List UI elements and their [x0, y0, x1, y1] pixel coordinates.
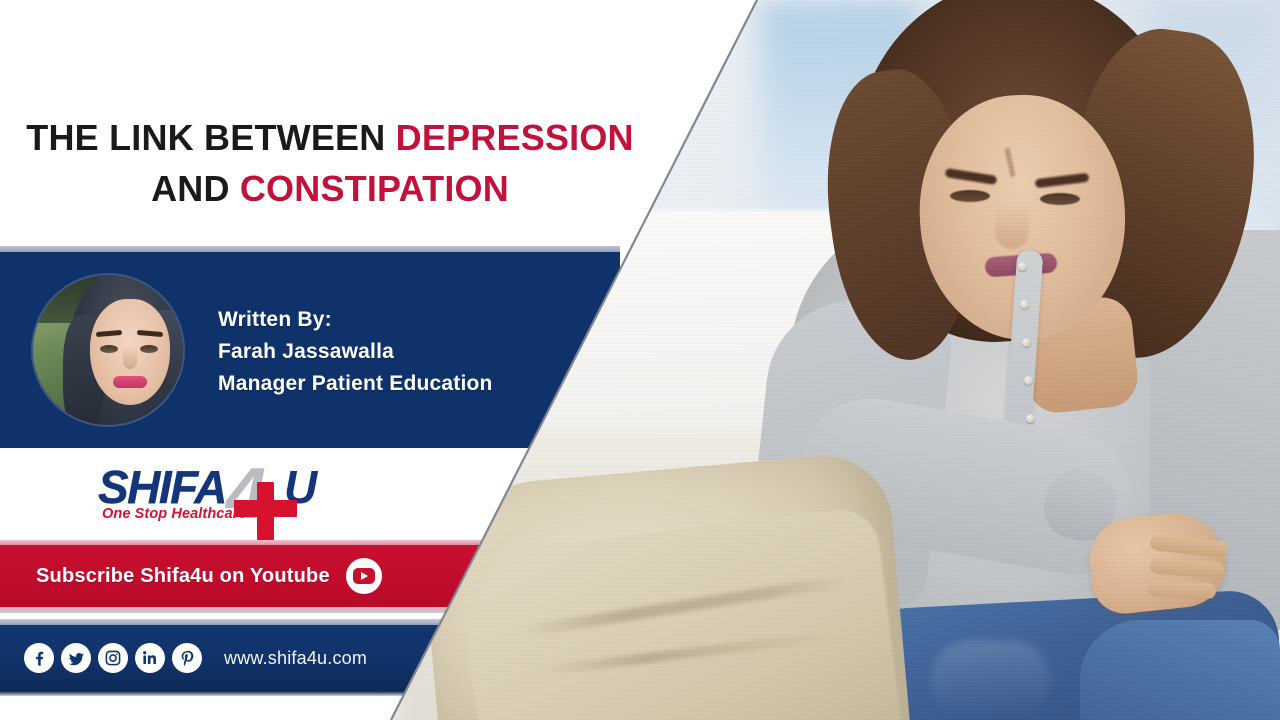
avatar-lips — [113, 376, 147, 388]
logo-tagline: One Stop Healthcare — [102, 506, 247, 522]
author-text-block: Written By: Farah Jassawalla Manager Pat… — [218, 304, 493, 400]
facebook-icon[interactable] — [24, 643, 54, 673]
youtube-badge — [353, 568, 375, 584]
title-line-2: AND CONSTIPATION — [0, 163, 660, 214]
linkedin-icon[interactable] — [135, 643, 165, 673]
photo-shirt-button — [1024, 376, 1033, 385]
avatar-eye-right — [140, 345, 158, 353]
avatar-nose — [123, 347, 137, 369]
page-title: THE LINK BETWEEN DEPRESSION AND CONSTIPA… — [0, 112, 660, 214]
avatar — [33, 275, 183, 425]
shifa4u-logo[interactable]: 4 SHIFA U One Stop Healthcare — [98, 456, 338, 530]
title-line-2-plain: AND — [151, 168, 240, 209]
banner-root: THE LINK BETWEEN DEPRESSION AND CONSTIPA… — [0, 0, 1280, 720]
title-line-2-highlight: CONSTIPATION — [240, 168, 509, 209]
author-role: Manager Patient Education — [218, 368, 493, 400]
photo-shirt-button — [1022, 338, 1031, 347]
pinterest-icon[interactable] — [172, 643, 202, 673]
youtube-triangle — [361, 572, 368, 580]
subscribe-label: Subscribe Shifa4u on Youtube — [36, 565, 330, 588]
photo-eye-left — [950, 190, 990, 202]
author-name: Farah Jassawalla — [218, 336, 493, 368]
instagram-icon[interactable] — [98, 643, 128, 673]
avatar-eye-left — [100, 345, 118, 353]
photo-finger — [1148, 581, 1217, 599]
photo-eye-right — [1040, 193, 1080, 205]
photo-shirt-button — [1018, 262, 1027, 271]
title-line-1: THE LINK BETWEEN DEPRESSION — [0, 112, 660, 163]
twitter-icon[interactable] — [61, 643, 91, 673]
written-by-label: Written By: — [218, 304, 493, 336]
photo-shirt-button — [1026, 414, 1035, 423]
title-line-1-plain: THE LINK BETWEEN — [26, 117, 395, 158]
logo-wordmark: SHIFA — [98, 464, 226, 510]
youtube-play-icon[interactable] — [346, 558, 382, 594]
photo-jeans-highlight — [930, 640, 1050, 720]
photo-jeans-right-leg — [1080, 620, 1280, 720]
photo-shirt-button — [1020, 300, 1029, 309]
social-icon-group — [24, 643, 202, 673]
photo-nose — [995, 205, 1029, 249]
title-line-1-highlight: DEPRESSION — [396, 117, 634, 158]
author-band: Written By: Farah Jassawalla Manager Pat… — [0, 252, 620, 448]
website-url[interactable]: www.shifa4u.com — [224, 648, 367, 669]
